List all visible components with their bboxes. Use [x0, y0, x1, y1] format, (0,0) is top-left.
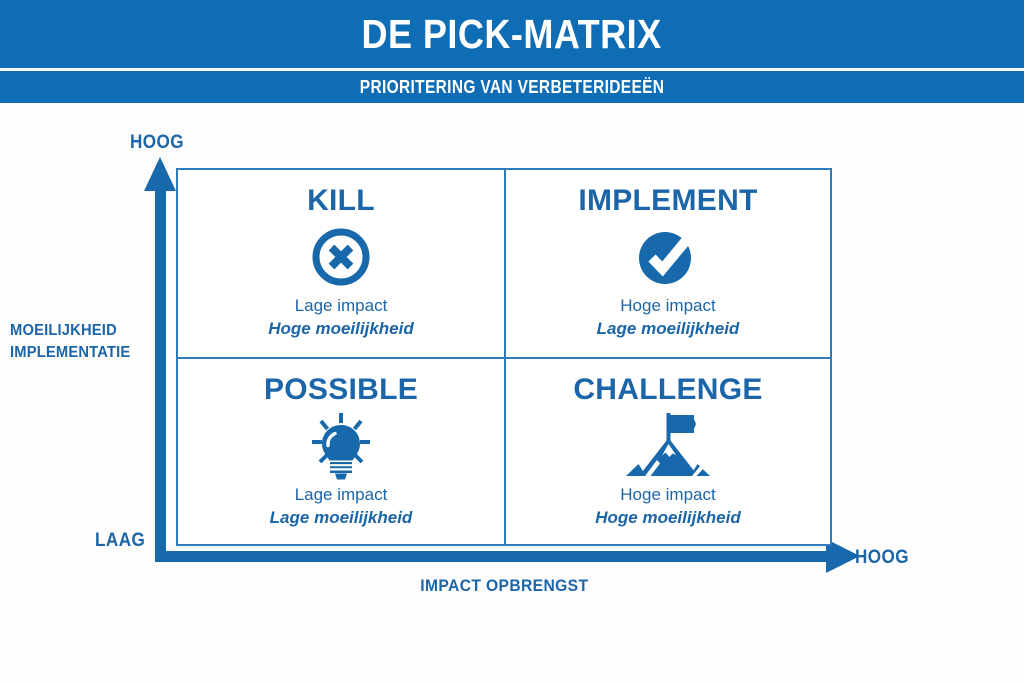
quadrant-kill[interactable]: KILL Lage impact Hoge moeilijkheid	[178, 170, 504, 357]
header-subtitle-row: PRIORITERING VAN VERBETERIDEEËN	[0, 71, 1024, 103]
x-axis-title: IMPACT OPBRENGST	[176, 576, 832, 596]
page-subtitle: PRIORITERING VAN VERBETERIDEEËN	[360, 77, 665, 98]
quadrant-impact-implement: Hoge impact	[620, 294, 715, 317]
page-title: DE PICK-MATRIX	[362, 11, 662, 58]
quadrant-difficulty-kill: Hoge moeilijkheid	[268, 317, 413, 340]
x-axis-line	[155, 551, 833, 562]
quadrant-title-challenge: CHALLENGE	[573, 373, 762, 407]
circle-check-icon	[637, 220, 699, 294]
x-axis-right-label: HOOG	[855, 547, 909, 569]
header-title-row: DE PICK-MATRIX	[0, 0, 1024, 68]
y-axis-line	[155, 185, 166, 562]
header-band: DE PICK-MATRIX PRIORITERING VAN VERBETER…	[0, 0, 1024, 103]
circle-x-icon	[312, 220, 370, 294]
quadrant-possible[interactable]: POSSIBLE	[178, 357, 504, 544]
quadrant-implement[interactable]: IMPLEMENT Hoge impact Lage moeilijkheid	[504, 170, 830, 357]
quadrant-difficulty-possible: Lage moeilijkheid	[270, 506, 413, 529]
quadrant-title-possible: POSSIBLE	[264, 373, 418, 407]
y-axis-title: MOEILIJKHEID IMPLEMENTATIE	[10, 320, 156, 364]
quadrant-difficulty-implement: Lage moeilijkheid	[597, 317, 740, 340]
y-axis-bottom-label: LAAG	[95, 530, 145, 552]
quadrant-challenge[interactable]: CHALLENGE Hoge impact Hoge moeilijkheid	[504, 357, 830, 544]
pick-matrix-grid: KILL Lage impact Hoge moeilijkheid IMPLE…	[176, 168, 832, 546]
y-axis-top-label: HOOG	[130, 132, 184, 154]
quadrant-impact-possible: Lage impact	[295, 483, 388, 506]
quadrant-impact-challenge: Hoge impact	[620, 483, 715, 506]
quadrant-difficulty-challenge: Hoge moeilijkheid	[595, 506, 740, 529]
mountain-flag-icon	[624, 409, 712, 483]
y-axis-title-line1: MOEILIJKHEID	[10, 320, 144, 342]
quadrant-title-kill: KILL	[307, 184, 375, 218]
quadrant-title-implement: IMPLEMENT	[578, 184, 757, 218]
lightbulb-icon	[305, 409, 377, 483]
y-axis-arrowhead-icon	[144, 157, 176, 191]
quadrant-impact-kill: Lage impact	[295, 294, 388, 317]
x-axis-title-text: IMPACT OPBRENGST	[420, 576, 588, 596]
y-axis-title-line2: IMPLEMENTATIE	[10, 342, 144, 364]
